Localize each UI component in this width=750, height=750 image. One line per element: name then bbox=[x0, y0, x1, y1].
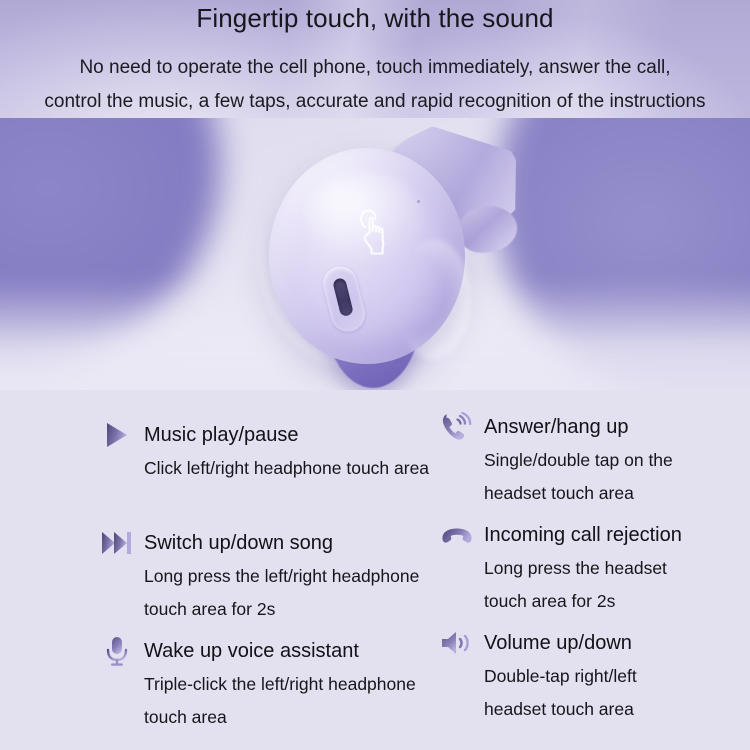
hand-tap-icon bbox=[351, 206, 397, 258]
earbud-speaker-slot bbox=[320, 263, 369, 335]
feature-desc-line: Double-tap right/left bbox=[484, 660, 740, 693]
earbud-microphone-hole bbox=[417, 200, 420, 203]
feature-header: Music play/pause bbox=[100, 418, 430, 452]
feature-header: Switch up/down song bbox=[100, 526, 430, 560]
feature-title: Switch up/down song bbox=[144, 532, 333, 555]
feature-desc-line: touch area for 2s bbox=[484, 585, 740, 618]
phone-ringing-icon bbox=[440, 410, 474, 444]
header-banner: Fingertip touch, with the sound No need … bbox=[0, 0, 750, 118]
feature-header: Answer/hang up bbox=[440, 410, 740, 444]
subtitle-line-1: No need to operate the cell phone, touch… bbox=[0, 57, 750, 79]
feature-desc-line: Triple-click the left/right headphone bbox=[144, 668, 430, 701]
feature-desc-line: Long press the left/right headphone bbox=[144, 560, 430, 593]
feature-header: Incoming call rejection bbox=[440, 518, 740, 552]
feature-title: Incoming call rejection bbox=[484, 524, 682, 547]
page-title: Fingertip touch, with the sound bbox=[0, 3, 750, 34]
feature-desc-line: headset touch area bbox=[484, 477, 740, 510]
feature-answer-hangup: Answer/hang up Single/double tap on the … bbox=[440, 410, 740, 510]
feature-desc-line: touch area for 2s bbox=[144, 593, 430, 626]
feature-switch-song: Switch up/down song Long press the left/… bbox=[100, 526, 430, 626]
earbud-rim-light bbox=[397, 240, 471, 360]
feature-voice-assistant: Wake up voice assistant Triple-click the… bbox=[100, 634, 430, 734]
speaker-volume-icon bbox=[440, 626, 474, 660]
skip-forward-icon bbox=[100, 526, 134, 560]
hero-product-image bbox=[0, 118, 750, 390]
feature-list: Music play/pause Click left/right headph… bbox=[0, 390, 750, 750]
product-infographic: Fingertip touch, with the sound No need … bbox=[0, 0, 750, 750]
earbud-body bbox=[269, 148, 465, 364]
feature-header: Wake up voice assistant bbox=[100, 634, 430, 668]
feature-title: Answer/hang up bbox=[484, 416, 629, 439]
feature-volume: Volume up/down Double-tap right/left hea… bbox=[440, 626, 740, 726]
feature-music-play-pause: Music play/pause Click left/right headph… bbox=[100, 418, 430, 485]
feature-desc-line: Single/double tap on the bbox=[484, 444, 740, 477]
feature-desc-line: touch area bbox=[144, 701, 430, 734]
earbud-product bbox=[247, 130, 547, 390]
feature-header: Volume up/down bbox=[440, 626, 740, 660]
feature-title: Volume up/down bbox=[484, 632, 632, 655]
feature-call-rejection: Incoming call rejection Long press the h… bbox=[440, 518, 740, 618]
phone-hangup-icon bbox=[440, 518, 474, 552]
earbud-slot-opening bbox=[332, 277, 354, 317]
feature-title: Music play/pause bbox=[144, 424, 299, 447]
feature-desc-line: Click left/right headphone touch area bbox=[144, 452, 430, 485]
microphone-icon bbox=[100, 634, 134, 668]
feature-desc-line: headset touch area bbox=[484, 693, 740, 726]
feature-title: Wake up voice assistant bbox=[144, 640, 359, 663]
feature-desc-line: Long press the headset bbox=[484, 552, 740, 585]
play-icon bbox=[100, 418, 134, 452]
subtitle-line-2: control the music, a few taps, accurate … bbox=[0, 91, 750, 113]
